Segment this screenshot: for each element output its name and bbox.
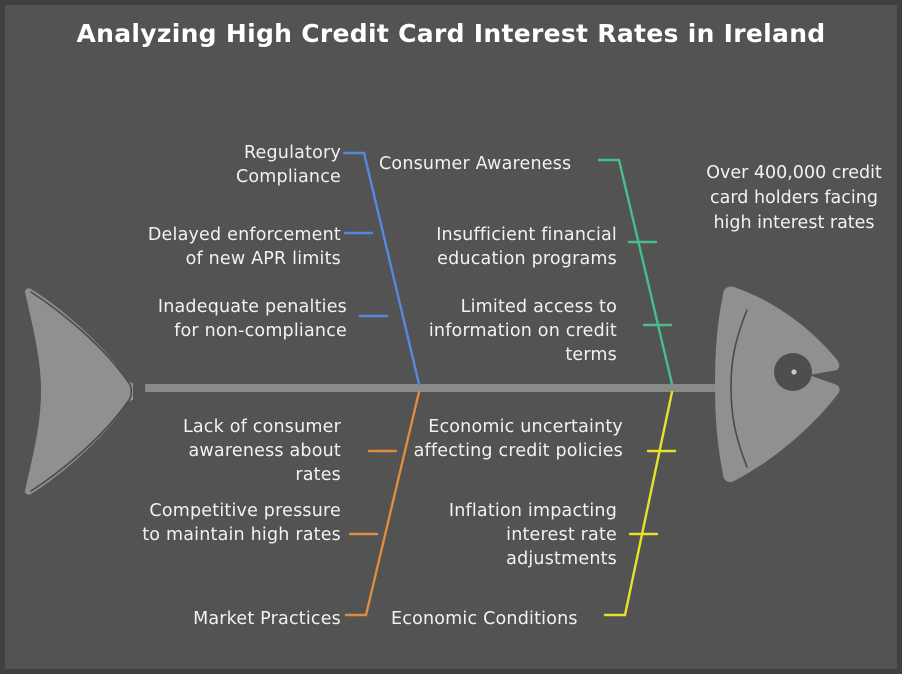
- fish-head-icon: [715, 286, 840, 482]
- cause-label-market-2: Competitive pressure to maintain high ra…: [137, 499, 341, 547]
- effect-statement: Over 400,000 credit card holders facing …: [705, 161, 883, 236]
- cause-label-consumer-1: Insufficient financial education program…: [401, 223, 617, 271]
- cause-label-consumer-2: Limited access to information on credit …: [401, 295, 617, 367]
- fish-tail-icon: [25, 288, 133, 495]
- cause-label-regulatory-2: Inadequate penalties for non-compliance: [135, 295, 347, 343]
- category-label-consumer-awareness: Consumer Awareness: [379, 152, 595, 176]
- category-label-market-practices: Market Practices: [155, 607, 341, 631]
- cause-label-economic-1: Economic uncertainty affecting credit po…: [401, 415, 623, 463]
- cause-label-market-1: Lack of consumer awareness about rates: [145, 415, 341, 487]
- cause-label-economic-2: Inflation impacting interest rate adjust…: [401, 499, 617, 571]
- fishbone-spine: [145, 384, 723, 392]
- fishbone-diagram-canvas: Analyzing High Credit Card Interest Rate…: [0, 0, 902, 674]
- category-label-economic-conditions: Economic Conditions: [391, 607, 607, 631]
- category-label-regulatory-compliance: Regulatory Compliance: [201, 141, 341, 189]
- cause-label-regulatory-1: Delayed enforcement of new APR limits: [135, 223, 341, 271]
